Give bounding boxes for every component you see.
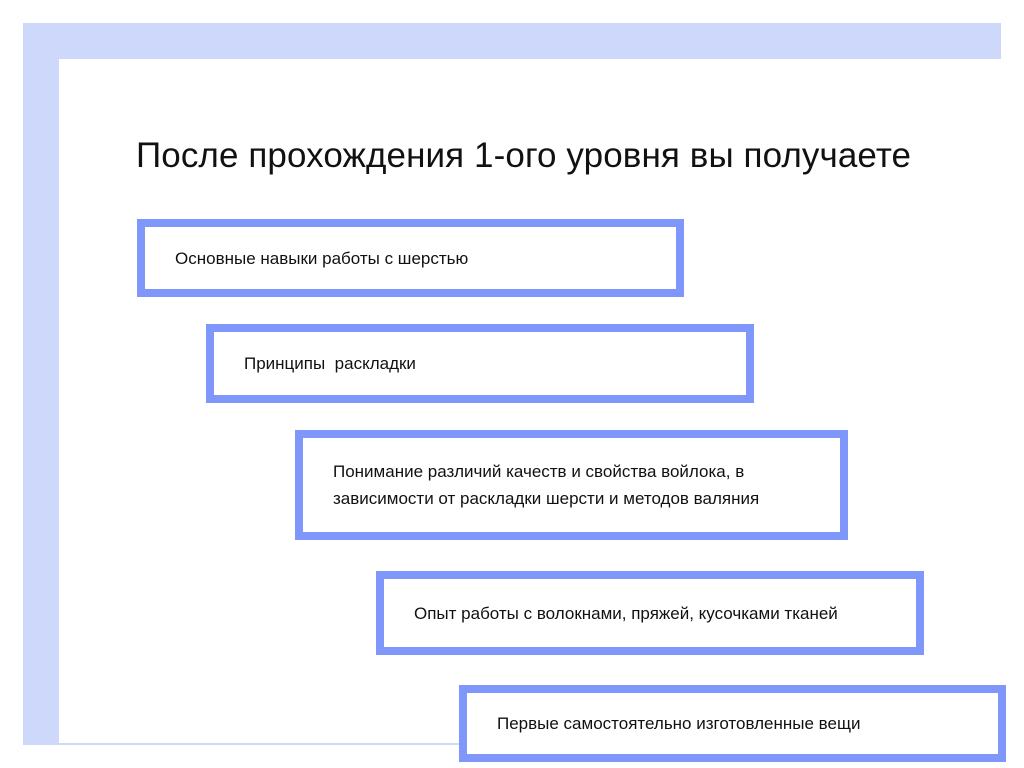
page-title: После прохождения 1-ого уровня вы получа… <box>136 133 1016 179</box>
slide-outer-frame: После прохождения 1-ого уровня вы получа… <box>23 23 1001 745</box>
list-item[interactable]: Понимание различий качеств и свойства во… <box>295 430 848 540</box>
list-item[interactable]: Первые самостоятельно изготовленные вещи <box>459 685 1006 762</box>
list-item[interactable]: Принципы раскладки <box>206 324 754 403</box>
list-item[interactable]: Опыт работы с волокнами, пряжей, кусочка… <box>376 571 924 655</box>
list-item[interactable]: Основные навыки работы с шерстью <box>137 219 684 297</box>
list-item-label: Основные навыки работы с шерстью <box>145 245 468 272</box>
slide-canvas: После прохождения 1-ого уровня вы получа… <box>59 59 1011 743</box>
list-item-label: Понимание различий качеств и свойства во… <box>303 458 840 512</box>
list-item-label: Первые самостоятельно изготовленные вещи <box>467 710 860 737</box>
list-item-label: Опыт работы с волокнами, пряжей, кусочка… <box>384 600 838 627</box>
list-item-label: Принципы раскладки <box>214 350 416 377</box>
